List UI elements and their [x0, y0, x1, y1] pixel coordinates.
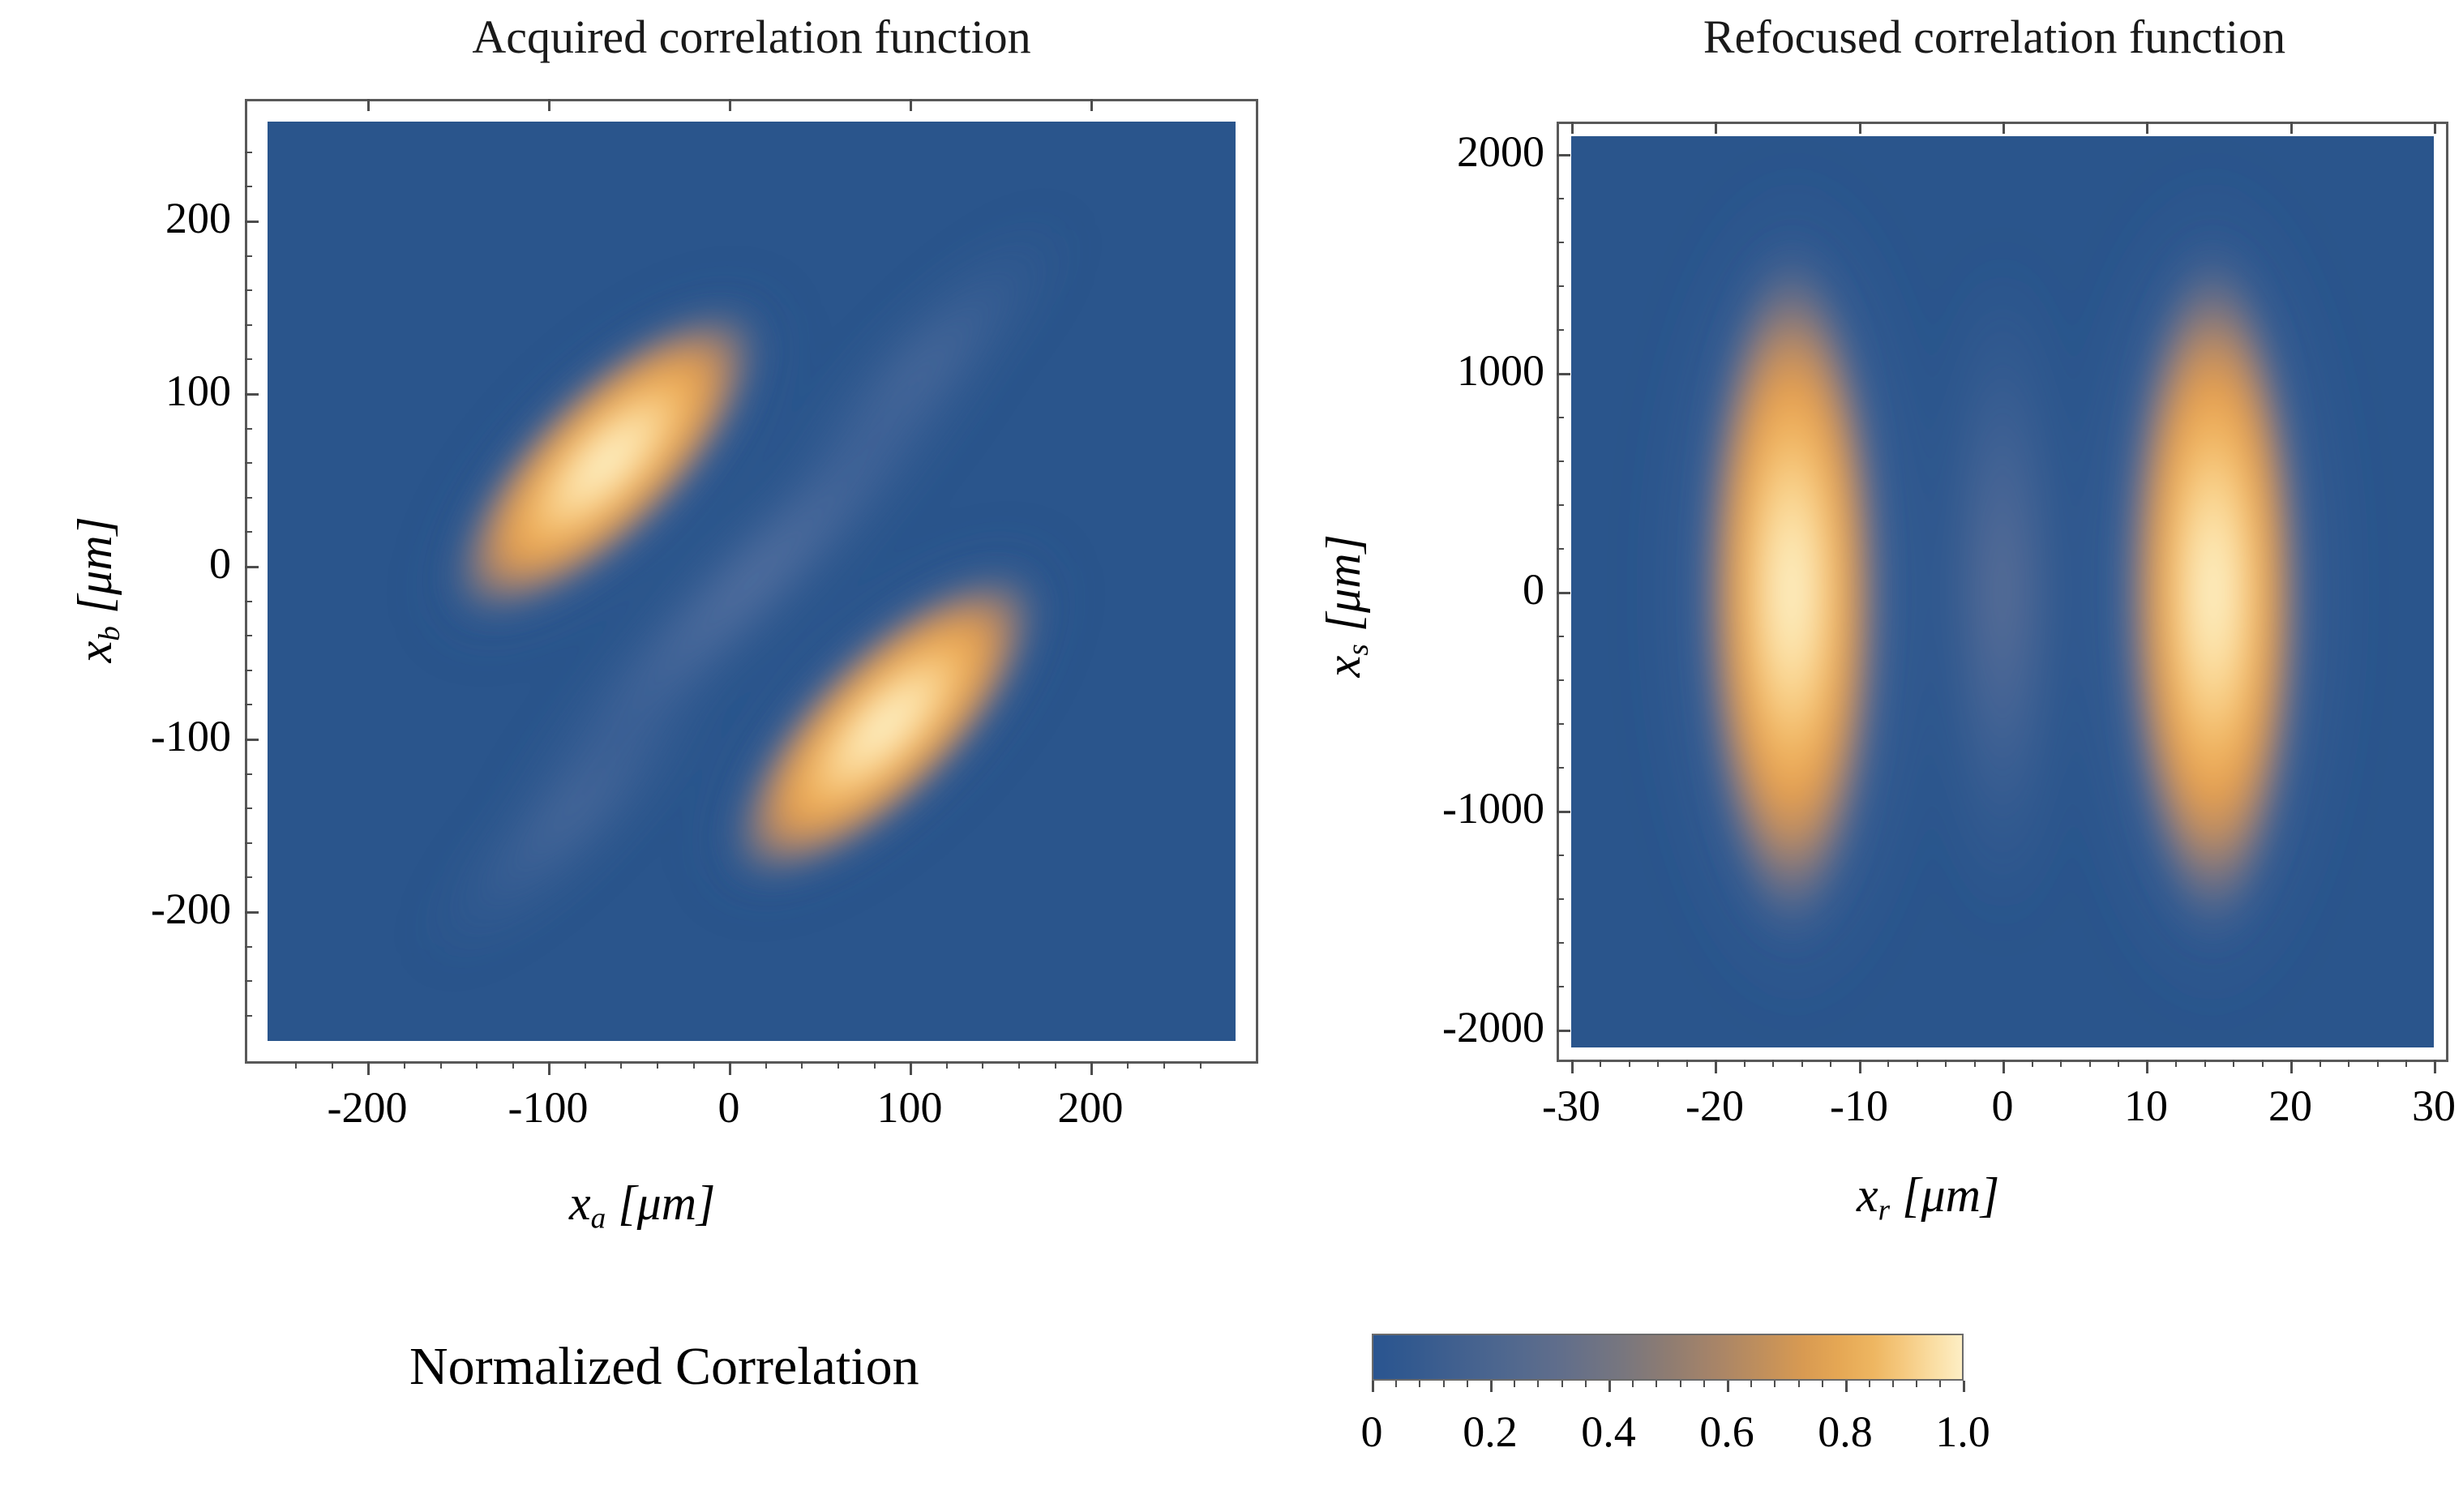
- x-axis-label-subscript: a: [591, 1201, 606, 1235]
- y-tick-major: [245, 566, 259, 568]
- colorbar-tick-minor: [1680, 1381, 1681, 1387]
- y-tick-minor: [1557, 855, 1564, 856]
- panel-refocused-title: Refocused correlation function: [1540, 10, 2448, 64]
- y-axis-label-unit: [μm]: [68, 516, 122, 614]
- x-tick-minor: [1018, 1061, 1020, 1069]
- x-tick-top-major: [729, 99, 731, 111]
- x-tick-major: [1571, 1060, 1574, 1073]
- x-tick-minor: [620, 1061, 622, 1069]
- x-tick-major: [1859, 1060, 1861, 1073]
- x-tick-minor: [585, 1061, 586, 1069]
- x-tick-top-major: [367, 99, 370, 111]
- y-axis-label-unit: [μm]: [1317, 534, 1370, 632]
- x-tick-minor: [657, 1061, 658, 1069]
- colorbar-tick-minor: [1585, 1381, 1587, 1387]
- y-tick-minor: [1557, 242, 1564, 243]
- x-tick-minor: [2060, 1060, 2062, 1067]
- y-axis-label-refocused: xs [μm]: [1316, 476, 1376, 735]
- x-axis-label-symbol: x: [569, 1176, 591, 1230]
- x-tick-major: [910, 1061, 912, 1075]
- y-tick-minor: [245, 428, 252, 430]
- y-tick-minor: [1557, 198, 1564, 199]
- x-tick-minor: [2348, 1060, 2349, 1067]
- colorbar-tick-major: [1490, 1381, 1493, 1392]
- x-axis-label-subscript: r: [1878, 1193, 1890, 1227]
- colorbar-tick-minor: [1703, 1381, 1705, 1387]
- y-tick-major: [245, 739, 259, 741]
- acquired-heatmap-svg: [268, 122, 1236, 1041]
- x-tick-major: [2290, 1060, 2293, 1073]
- colorbar-tick-minor: [1467, 1381, 1468, 1387]
- y-tick-minor: [1557, 942, 1564, 944]
- y-tick-minor: [1557, 898, 1564, 900]
- x-tick-minor: [1744, 1060, 1746, 1067]
- x-tick-minor: [1200, 1061, 1202, 1069]
- colorbar-tick-label: 1.0: [1882, 1407, 2044, 1457]
- x-tick-minor: [332, 1061, 333, 1069]
- x-tick-minor: [2118, 1060, 2119, 1067]
- x-tick-minor: [1629, 1060, 1630, 1067]
- y-tick-major: [1557, 373, 1570, 375]
- x-tick-minor: [1945, 1060, 1947, 1067]
- y-tick-minor: [1557, 285, 1564, 287]
- y-tick-minor: [1557, 504, 1564, 506]
- y-tick-label: -200: [16, 884, 231, 934]
- y-tick-minor: [245, 807, 252, 809]
- colorbar-tick-minor: [1939, 1381, 1941, 1387]
- x-tick-label: 200: [993, 1082, 1188, 1133]
- x-tick-minor: [1887, 1060, 1889, 1067]
- x-tick-minor: [1686, 1060, 1688, 1067]
- colorbar-tick-minor: [1561, 1381, 1563, 1387]
- colorbar-title: Normalized Correlation: [409, 1336, 919, 1398]
- x-tick-minor: [1830, 1060, 1831, 1067]
- x-axis-label-unit: [μm]: [618, 1176, 715, 1230]
- x-tick-minor: [512, 1061, 514, 1069]
- y-tick-major: [1557, 1030, 1570, 1032]
- x-tick-minor: [837, 1061, 839, 1069]
- x-axis-label-symbol: x: [1857, 1168, 1878, 1222]
- x-tick-top-major: [1090, 99, 1093, 111]
- x-tick-minor: [1801, 1060, 1803, 1067]
- x-tick-top-major: [548, 99, 550, 111]
- x-tick-minor: [1974, 1060, 1976, 1067]
- x-tick-major: [1090, 1061, 1093, 1075]
- y-tick-minor: [1557, 329, 1564, 331]
- x-tick-top-major: [2290, 122, 2293, 134]
- colorbar-tick-major: [1727, 1381, 1729, 1392]
- x-tick-minor: [2377, 1060, 2379, 1067]
- y-tick-label: 200: [16, 193, 231, 243]
- colorbar-tick-major: [1845, 1381, 1848, 1392]
- x-axis-label-refocused: xr [μm]: [1857, 1167, 1999, 1227]
- x-tick-top-major: [1859, 122, 1861, 134]
- x-tick-minor: [2175, 1060, 2177, 1067]
- x-tick-top-major: [1571, 122, 1574, 134]
- y-axis-label-acquired: xb [μm]: [67, 460, 127, 719]
- y-axis-label-subscript: s: [1342, 644, 1375, 655]
- x-tick-top-major: [910, 99, 912, 111]
- colorbar-tick-minor: [1798, 1381, 1800, 1387]
- y-tick-label: 2000: [1313, 126, 1544, 177]
- colorbar-tick-minor: [1774, 1381, 1776, 1387]
- colorbar-tick-major: [1608, 1381, 1611, 1392]
- colorbar-tick-minor: [1443, 1381, 1445, 1387]
- y-tick-minor: [245, 531, 252, 533]
- y-tick-minor: [245, 670, 252, 671]
- x-tick-label: 0: [632, 1082, 826, 1133]
- x-tick-minor: [765, 1061, 767, 1069]
- y-tick-label: -1000: [1313, 783, 1544, 833]
- y-axis-label-subscript: b: [93, 626, 126, 641]
- y-tick-minor: [245, 1015, 252, 1017]
- x-tick-major: [2146, 1060, 2148, 1073]
- x-tick-minor: [1163, 1061, 1165, 1069]
- x-tick-major: [2003, 1060, 2005, 1073]
- x-tick-minor: [1600, 1060, 1601, 1067]
- x-tick-label: 30: [2345, 1081, 2463, 1131]
- x-tick-minor: [2320, 1060, 2321, 1067]
- y-tick-label: 100: [16, 366, 231, 416]
- y-tick-minor: [245, 497, 252, 499]
- y-axis-label-symbol: x: [1317, 656, 1370, 678]
- x-tick-major: [1715, 1060, 1717, 1073]
- figure-root: Acquired correlation function: [0, 0, 2463, 1512]
- x-tick-minor: [801, 1061, 803, 1069]
- colorbar-tick-minor: [1916, 1381, 1917, 1387]
- x-tick-minor: [1127, 1061, 1129, 1069]
- y-tick-minor: [245, 876, 252, 878]
- y-tick-minor: [245, 946, 252, 948]
- x-tick-minor: [1772, 1060, 1774, 1067]
- y-tick-minor: [1557, 417, 1564, 418]
- panel-acquired-heatmap: [268, 122, 1236, 1041]
- y-tick-major: [245, 911, 259, 914]
- y-tick-minor: [245, 704, 252, 705]
- x-tick-minor: [2405, 1060, 2407, 1067]
- y-tick-major: [245, 221, 259, 223]
- y-tick-minor: [245, 324, 252, 326]
- x-tick-top-major: [2146, 122, 2148, 134]
- x-tick-major: [367, 1061, 370, 1075]
- colorbar-tick-minor: [1632, 1381, 1634, 1387]
- x-tick-minor: [693, 1061, 695, 1069]
- y-tick-minor: [245, 289, 252, 291]
- x-tick-label: -200: [270, 1082, 465, 1133]
- colorbar-tick-major: [1372, 1381, 1374, 1392]
- y-tick-minor: [245, 601, 252, 602]
- y-tick-minor: [1557, 986, 1564, 987]
- colorbar-gradient: [1372, 1334, 1964, 1381]
- y-tick-major: [245, 393, 259, 396]
- x-tick-minor: [982, 1061, 983, 1069]
- colorbar-tick-minor: [1419, 1381, 1420, 1387]
- y-tick-minor: [1557, 548, 1564, 550]
- x-axis-label-unit: [μm]: [1902, 1168, 1999, 1222]
- y-tick-minor: [245, 152, 252, 153]
- colorbar-tick-major: [1963, 1381, 1965, 1392]
- x-tick-minor: [2262, 1060, 2264, 1067]
- x-tick-minor: [2032, 1060, 2033, 1067]
- x-axis-label-acquired: xa [μm]: [569, 1176, 715, 1236]
- y-tick-label: 1000: [1313, 345, 1544, 396]
- x-tick-minor: [404, 1061, 405, 1069]
- colorbar-tick-minor: [1537, 1381, 1539, 1387]
- y-tick-minor: [1557, 460, 1564, 462]
- panel-refocused-heatmap: [1571, 136, 2434, 1047]
- y-tick-minor: [245, 980, 252, 982]
- x-tick-minor: [874, 1061, 876, 1069]
- x-tick-minor: [2089, 1060, 2091, 1067]
- y-tick-minor: [245, 186, 252, 187]
- y-tick-minor: [245, 358, 252, 360]
- y-tick-minor: [245, 635, 252, 636]
- y-tick-major: [1557, 592, 1570, 594]
- colorbar-tick-minor: [1395, 1381, 1397, 1387]
- y-tick-major: [1557, 811, 1570, 813]
- colorbar-tick-minor: [1822, 1381, 1823, 1387]
- x-tick-minor: [2204, 1060, 2206, 1067]
- panel-acquired-title: Acquired correlation function: [245, 10, 1258, 64]
- x-tick-minor: [295, 1061, 297, 1069]
- colorbar-tick-minor: [1514, 1381, 1515, 1387]
- y-tick-minor: [245, 255, 252, 257]
- x-tick-label: 100: [812, 1082, 1007, 1133]
- colorbar-tick-minor: [1750, 1381, 1752, 1387]
- x-tick-minor: [476, 1061, 478, 1069]
- colorbar-tick-minor: [1869, 1381, 1870, 1387]
- x-tick-major: [729, 1061, 731, 1075]
- y-tick-major: [1557, 154, 1570, 156]
- y-tick-minor: [245, 842, 252, 844]
- y-tick-minor: [245, 462, 252, 464]
- x-tick-minor: [440, 1061, 442, 1069]
- y-tick-label: -2000: [1313, 1002, 1544, 1052]
- x-tick-label: -100: [451, 1082, 645, 1133]
- colorbar-tick-minor: [1656, 1381, 1657, 1387]
- refocused-heatmap-svg: [1571, 136, 2434, 1047]
- y-tick-minor: [1557, 767, 1564, 769]
- y-axis-label-symbol: x: [68, 641, 122, 663]
- x-tick-minor: [946, 1061, 948, 1069]
- y-tick-minor: [1557, 679, 1564, 681]
- y-tick-minor: [1557, 723, 1564, 725]
- y-tick-minor: [1557, 636, 1564, 637]
- x-tick-minor: [1657, 1060, 1659, 1067]
- x-tick-major: [2434, 1060, 2436, 1073]
- x-tick-top-major: [2434, 122, 2436, 134]
- x-tick-top-major: [1715, 122, 1717, 134]
- x-tick-major: [548, 1061, 550, 1075]
- x-tick-minor: [2233, 1060, 2234, 1067]
- x-tick-minor: [1917, 1060, 1918, 1067]
- x-tick-minor: [1055, 1061, 1056, 1069]
- colorbar-tick-minor: [1892, 1381, 1894, 1387]
- x-tick-top-major: [2003, 122, 2005, 134]
- y-tick-minor: [245, 773, 252, 775]
